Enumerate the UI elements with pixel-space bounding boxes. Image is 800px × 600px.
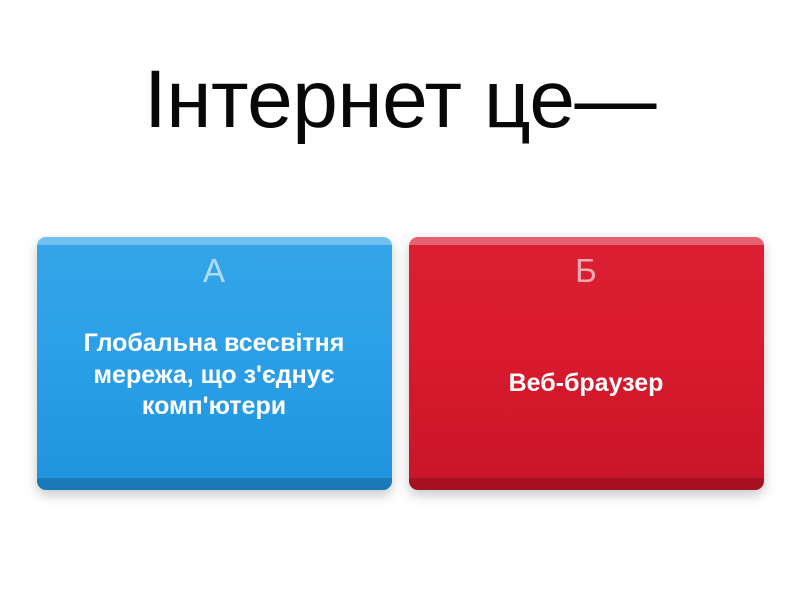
answer-letter-b: Б	[575, 254, 597, 287]
quiz-slide: Інтернет це— А Глобальна всесвітня мереж…	[0, 0, 800, 600]
question-area: Інтернет це—	[0, 0, 800, 200]
answer-card-a[interactable]: А Глобальна всесвітня мережа, що з'єднує…	[37, 237, 392, 490]
answer-text-a: Глобальна всесвітня мережа, що з'єднує к…	[51, 328, 378, 423]
answer-text-b: Веб-браузер	[509, 368, 664, 400]
answer-text-container-a: Глобальна всесвітня мережа, що з'єднує к…	[37, 287, 392, 490]
question-title: Інтернет це—	[144, 57, 656, 143]
answer-text-container-b: Веб-браузер	[409, 287, 764, 490]
answer-options-row: А Глобальна всесвітня мережа, що з'єднує…	[0, 200, 800, 500]
answer-letter-a: А	[203, 254, 225, 287]
answer-card-b[interactable]: Б Веб-браузер	[409, 237, 764, 490]
